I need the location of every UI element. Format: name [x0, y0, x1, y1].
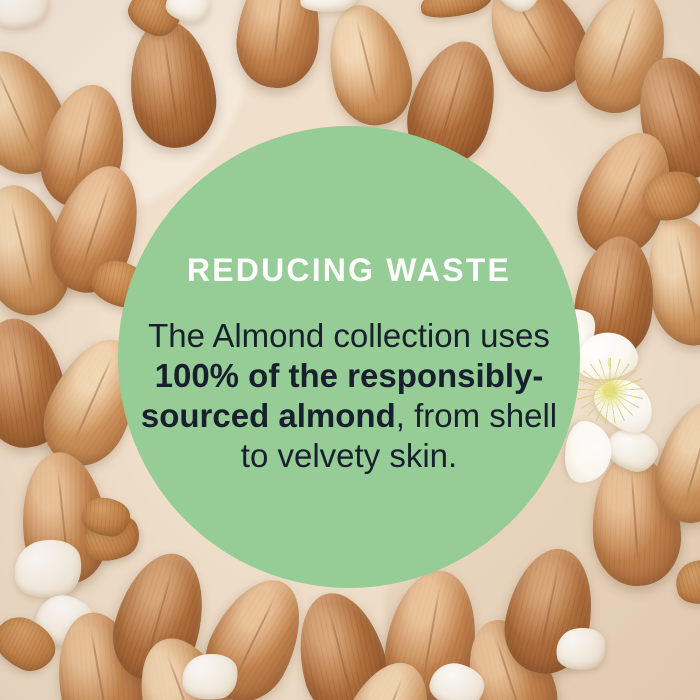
body-copy-run: to velvety skin. — [241, 437, 457, 474]
blossom-stamens — [586, 368, 634, 414]
almond-blossom — [560, 330, 700, 480]
product-graphic: REDUCING WASTE The Almond collection use… — [0, 0, 700, 700]
body-copy-run: , from shell — [396, 397, 557, 434]
body-copy: The Almond collection uses100% of the re… — [139, 316, 559, 476]
body-copy-emphasis: 100% of the responsibly- — [155, 357, 544, 394]
body-copy-line: The Almond collection uses — [139, 316, 559, 356]
green-circle-badge: REDUCING WASTE The Almond collection use… — [118, 126, 580, 588]
page-title: REDUCING WASTE — [187, 254, 511, 286]
body-copy-run: The Almond collection uses — [148, 317, 550, 354]
body-copy-line: 100% of the responsibly- — [139, 356, 559, 396]
body-copy-emphasis: sourced almond — [141, 397, 396, 434]
body-copy-line: to velvety skin. — [139, 436, 559, 476]
blossom-petal — [562, 419, 614, 485]
body-copy-line: sourced almond, from shell — [139, 396, 559, 436]
